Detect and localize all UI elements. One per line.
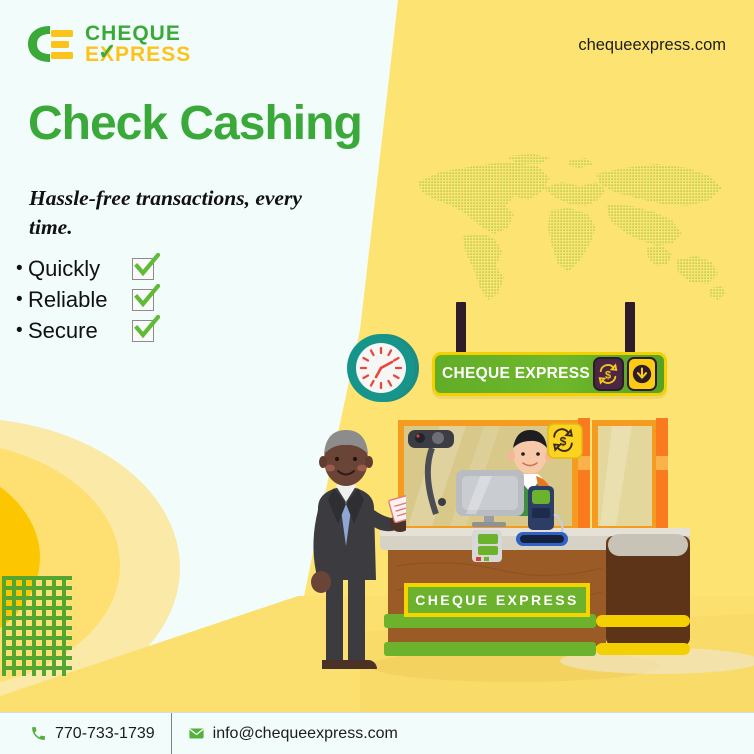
counter-sign: CHEQUE EXPRESS [404,583,590,617]
brand-logo[interactable]: CHEQUE EXPRESS ✓ [24,22,191,66]
envelope-icon [188,725,205,742]
footer-phone[interactable]: 770-733-1739 [0,713,171,754]
svg-text:$: $ [560,435,567,449]
world-map-dots-icon [410,148,740,320]
bullet-marker: • [16,289,28,311]
ce-monogram-icon [24,22,76,66]
download-arrow-icon [627,357,657,391]
counter-sign-label: CHEQUE EXPRESS [415,592,579,608]
website-url[interactable]: chequeexpress.com [578,36,726,55]
logo-text-express: EXPRESS ✓ [85,44,191,65]
email-address: info@chequeexpress.com [213,725,398,743]
feature-list: • Quickly • Reliable • Secure [16,253,154,346]
dot-grid-pattern [2,576,72,676]
logo-check-icon: ✓ [98,41,117,63]
clock-icon [345,330,421,406]
hanging-sign: CHEQUE EXPRESS $ [432,352,667,396]
hanging-sign-label: CHEQUE EXPRESS [442,365,590,383]
currency-exchange-icon: $ [593,357,623,391]
list-item: • Reliable [16,284,154,315]
list-item: • Quickly [16,253,154,284]
bullet-marker: • [16,320,28,342]
contact-footer: 770-733-1739 info@chequeexpress.com [0,712,754,754]
customer-with-check-illustration: $ [296,424,406,676]
tagline: Hassle-free transactions, every time. [29,184,349,242]
footer-email[interactable]: info@chequeexpress.com [172,713,414,754]
bullet-marker: • [16,258,28,280]
footer-divider [171,713,172,754]
checkbox-checked-icon [132,320,154,342]
checkbox-checked-icon [132,289,154,311]
page-title: Check Cashing [28,96,362,151]
teller-kiosk-illustration: $ [380,418,690,680]
feature-label: Secure [28,318,132,344]
feature-label: Reliable [28,287,132,313]
flyer-canvas: CHEQUE EXPRESS ✓ chequeexpress.com Check… [0,0,754,754]
phone-number: 770-733-1739 [55,725,155,743]
checkbox-checked-icon [132,258,154,280]
svg-text:$: $ [605,370,611,382]
list-item: • Secure [16,315,154,346]
phone-icon [30,725,47,742]
feature-label: Quickly [28,256,132,282]
